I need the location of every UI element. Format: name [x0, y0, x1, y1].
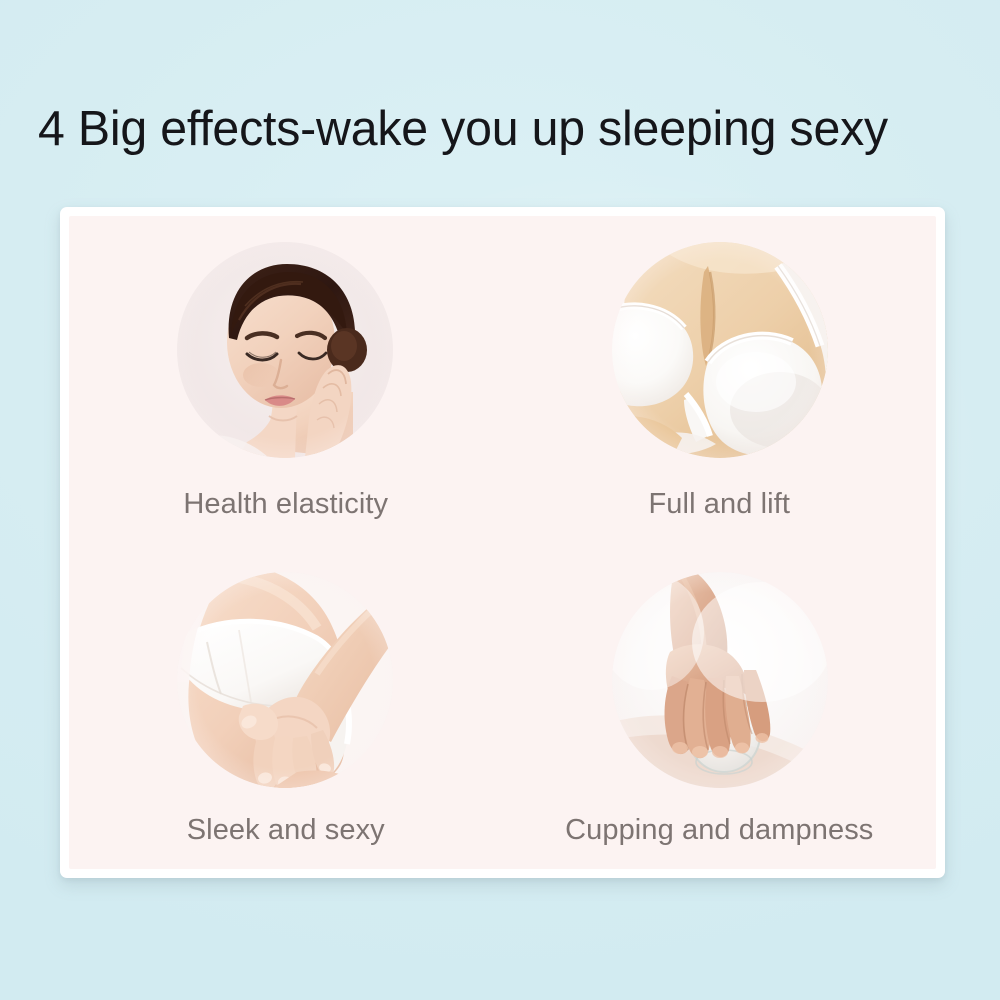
- white-bra-bust-photo: [612, 242, 828, 458]
- woman-touching-face-photo: [177, 242, 393, 458]
- page-title: 4 Big effects-wake you up sleeping sexy: [38, 97, 954, 161]
- benefits-card: Health elasticity: [60, 207, 945, 878]
- benefit-item-full-and-lift[interactable]: Full and lift: [503, 216, 937, 543]
- benefit-label: Cupping and dampness: [565, 813, 873, 847]
- benefit-item-health-elasticity[interactable]: Health elasticity: [69, 216, 503, 543]
- benefit-label: Sleek and sexy: [187, 813, 385, 847]
- benefit-label: Full and lift: [648, 487, 790, 521]
- benefit-label: Health elasticity: [183, 487, 388, 521]
- benefit-item-cupping-and-dampness[interactable]: Cupping and dampness: [503, 543, 937, 870]
- benefits-grid: Health elasticity: [69, 216, 936, 869]
- benefits-card-inner: Health elasticity: [69, 216, 936, 869]
- hip-thigh-hand-photo: [177, 572, 393, 788]
- promo-poster: 4 Big effects-wake you up sleeping sexy: [0, 0, 1000, 1000]
- benefit-item-sleek-and-sexy[interactable]: Sleek and sexy: [69, 543, 503, 870]
- hand-holding-cupping-jar-photo: [612, 572, 828, 788]
